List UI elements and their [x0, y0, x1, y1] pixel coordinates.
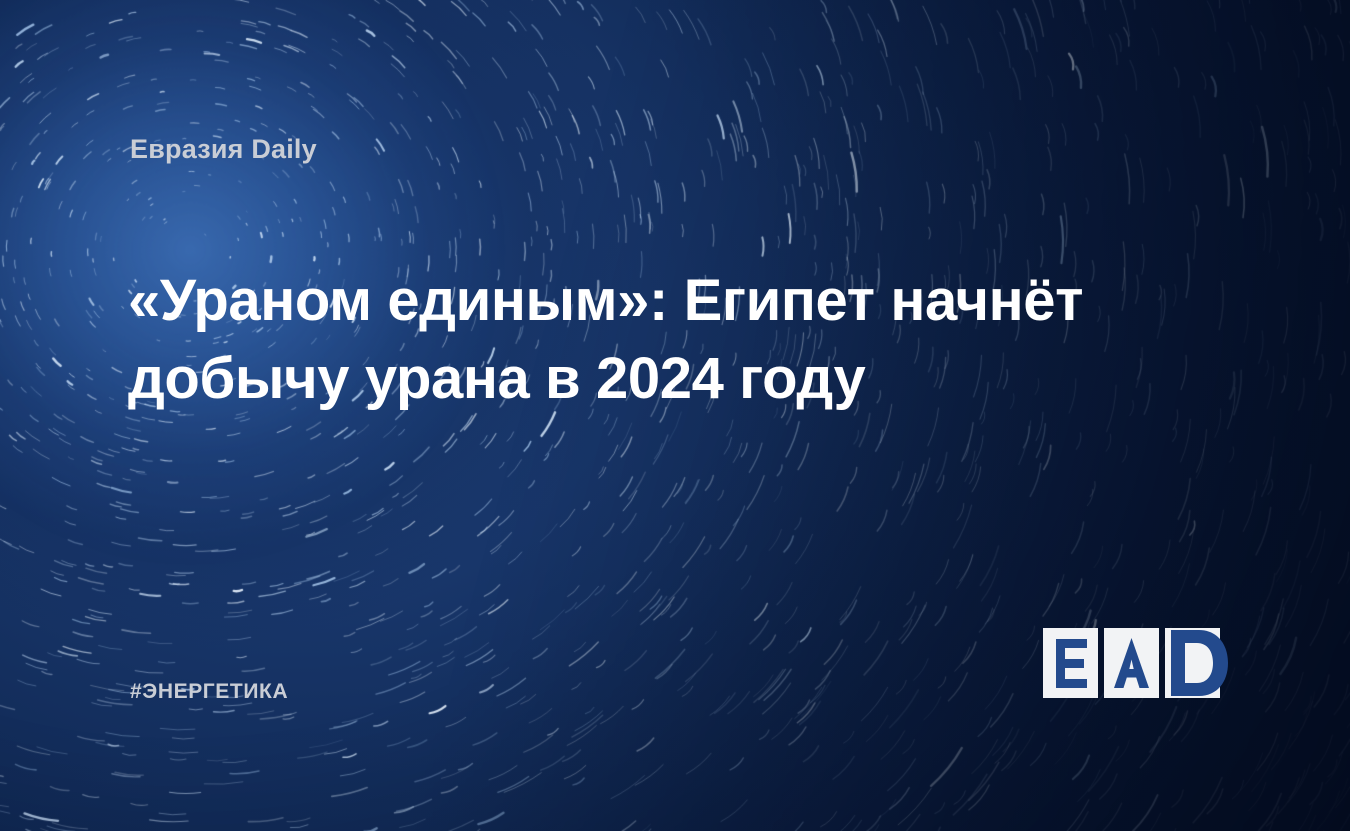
eadaily-logo[interactable]: [1043, 628, 1221, 698]
brand-label: Евразия Daily: [130, 134, 317, 165]
card-content: Евразия Daily «Ураном единым»: Египет на…: [0, 0, 1350, 831]
category-hashtag: #ЭНЕРГЕТИКА: [130, 680, 288, 704]
letter-a-tile-icon: [1104, 628, 1159, 698]
news-share-card: Евразия Daily «Ураном единым»: Египет на…: [0, 0, 1350, 831]
headline-line-1: «Ураном единым»: Египет начнёт: [128, 262, 1068, 340]
letter-d-tile-icon: [1161, 624, 1239, 702]
headline-line-2: добычу урана в 2024 году: [128, 340, 1068, 418]
letter-e-tile-icon: [1043, 628, 1098, 698]
headline: «Ураном единым»: Египет начнёт добычу ур…: [128, 262, 1068, 418]
